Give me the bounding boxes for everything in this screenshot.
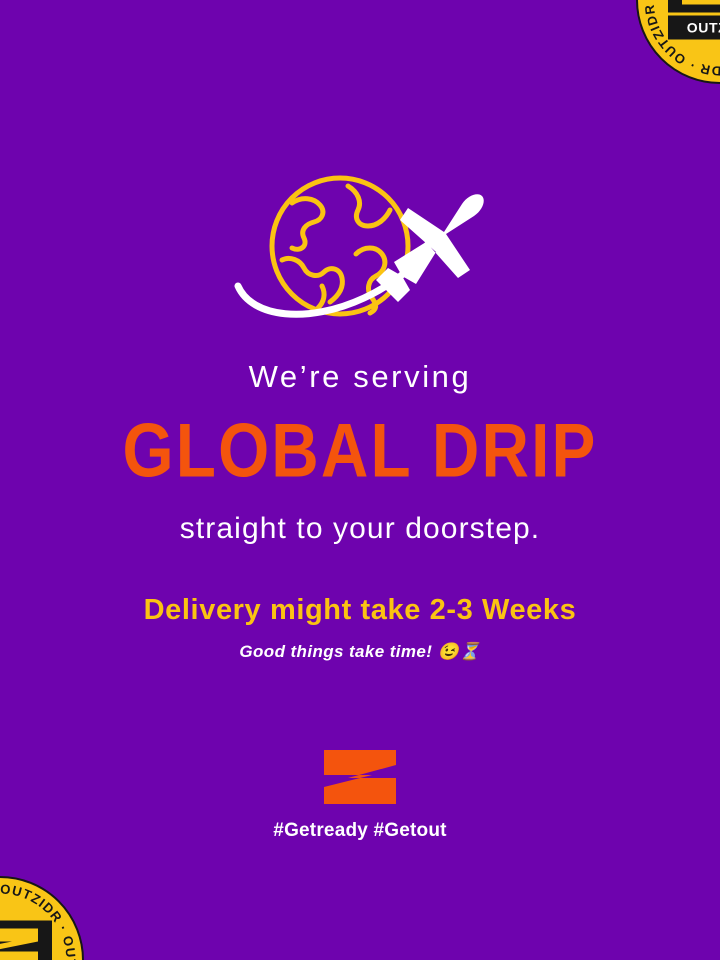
svg-text:OUTZIDR: OUTZIDR bbox=[687, 20, 720, 36]
hashtag-tagline: #Getready #Getout bbox=[273, 820, 446, 842]
page-title: GLOBAL DRIP bbox=[0, 408, 720, 495]
poster-copy: We’re serving GLOBAL DRIP straight to yo… bbox=[0, 360, 720, 662]
footer-brand: #Getready #Getout bbox=[0, 748, 720, 842]
reassurance-text: Good things take time! 😉⏳ bbox=[0, 643, 720, 662]
badge-core: OUTZIDR bbox=[668, 0, 720, 40]
badge-z-icon bbox=[0, 921, 52, 960]
badge-core: OUTZIDR bbox=[0, 921, 52, 960]
outzidr-z-logo bbox=[322, 748, 398, 806]
badge-wordmark: OUTZIDR bbox=[668, 16, 720, 40]
promo-poster: OUTZIDR · OUTZIDR · OUTZIDR · OUTZIDR · … bbox=[0, 0, 720, 960]
subhead-text: straight to your doorstep. bbox=[0, 512, 720, 545]
badge-z-icon bbox=[668, 0, 720, 13]
delivery-note: Delivery might take 2-3 Weeks bbox=[0, 595, 720, 627]
eyebrow-text: We’re serving bbox=[0, 360, 720, 394]
outzidr-badge-top-right: OUTZIDR · OUTZIDR · OUTZIDR · OUTZIDR · … bbox=[636, 0, 720, 84]
globe-plane-illustration bbox=[0, 168, 720, 343]
outzidr-badge-bottom-left: OUTZIDR · OUTZIDR · OUTZIDR · OUTZIDR · … bbox=[0, 876, 84, 960]
